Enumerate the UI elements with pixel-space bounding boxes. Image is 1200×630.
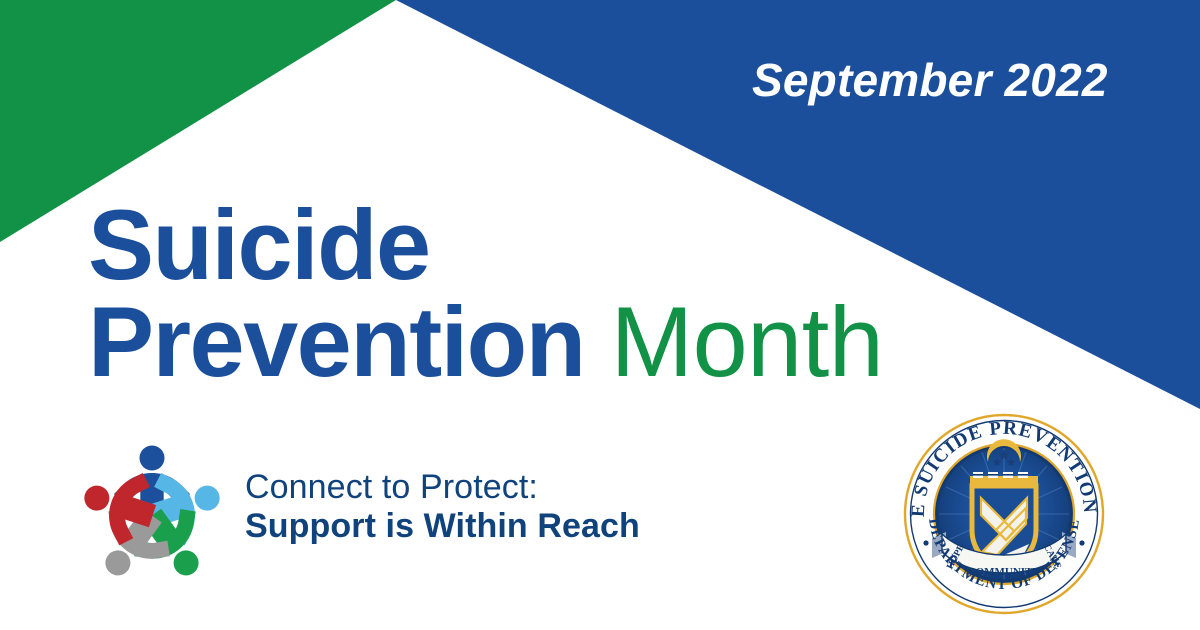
tagline-line-1: Connect to Protect: (245, 468, 640, 507)
headline-word-prevention: Prevention (88, 286, 585, 397)
person-left-icon (73, 458, 164, 552)
defense-suicide-prevention-office-seal: DEFENSE SUICIDE PREVENTION OFFICE DEPART… (902, 412, 1106, 616)
page-title: Suicide Prevention Month (88, 196, 1088, 390)
date-label: September 2022 (752, 57, 1108, 103)
seal-separator-left (923, 540, 928, 545)
seal-banner-community: COMMUNITY (968, 566, 1041, 578)
seal-separator-right (1079, 540, 1084, 545)
five-people-circle-icon (72, 438, 232, 590)
tagline: Connect to Protect: Support is Within Re… (245, 468, 640, 547)
headline-word-month: Month (611, 286, 884, 397)
headline-line-suicide: Suicide (88, 196, 1088, 293)
seal-crown-bar (970, 472, 1038, 485)
poster-canvas: September 2022 Suicide Prevention Month (0, 0, 1200, 630)
tagline-line-2: Support is Within Reach (245, 507, 640, 546)
